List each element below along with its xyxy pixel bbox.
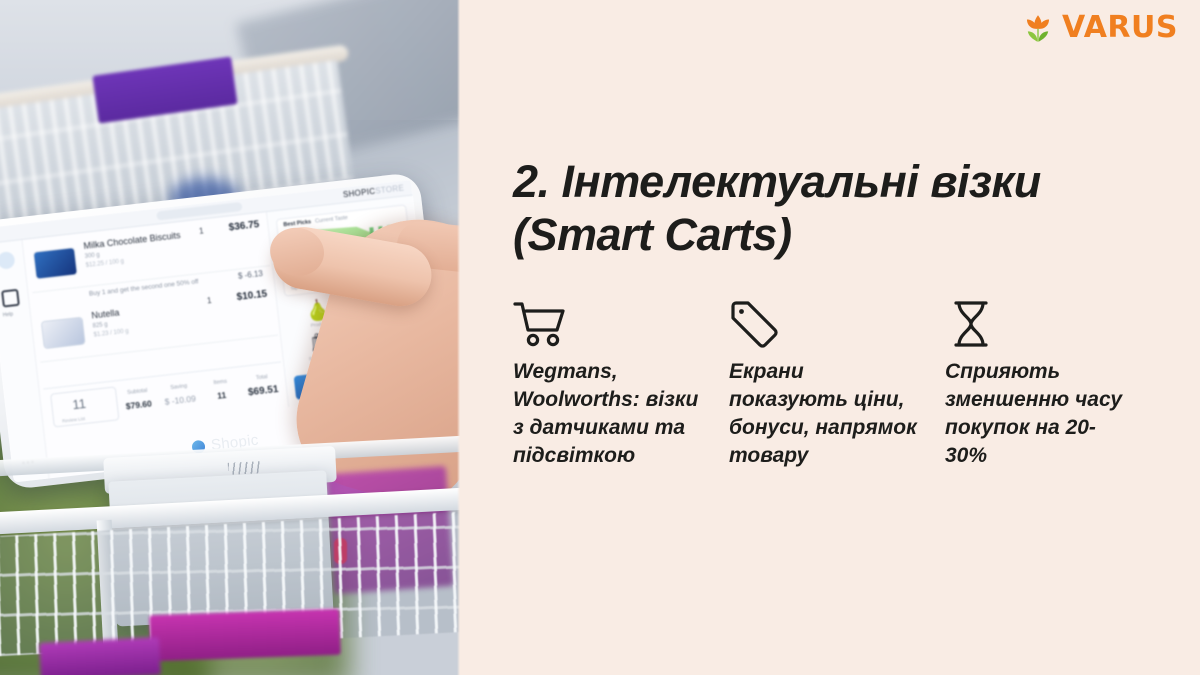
item-size: 825 g [92,322,108,330]
item-unit-price: $12.25 / 100 g [85,259,124,269]
promo-discount: $ -6.13 [238,269,264,281]
item-thumbnail [42,318,85,348]
summary-value: $79.60 [125,398,152,411]
item-qty: 1 [207,296,212,305]
feature-column-text: Wegmans, Woolworths: візки з датчиками т… [513,358,703,470]
summary-key: Saving [158,381,200,392]
varus-logo[interactable]: VARUS [1021,10,1178,45]
summary-saving: Saving $ -10.09 [158,381,202,410]
hourglass-icon [945,300,1135,358]
smart-cart-photo: Help ••• Milka Chocolate Biscuits 300 g … [0,0,460,675]
item-size: 300 g [84,252,100,260]
feature-column-screens: Екрани показують ціни, бонуси, напрямок … [729,300,945,470]
screen-item-list: Milka Chocolate Biscuits 300 g $12.25 / … [27,216,278,362]
feature-column-time: Сприяють зменшенню часу покупок на 20-30… [945,300,1161,470]
tulip-leaf-logo-icon [1021,11,1055,45]
review-list-box: 11 Review List [50,386,119,427]
item-unit-price: $1.23 / 100 g [93,329,128,339]
feature-column-carts: Wegmans, Woolworths: візки з датчиками т… [513,300,729,470]
rail-help-label: Help [3,311,14,318]
feature-column-text: Сприяють зменшенню часу покупок на 20-30… [945,358,1135,470]
item-thumbnail [34,248,77,278]
price-tag-icon [729,300,919,358]
rail-help-icon [1,289,20,308]
feature-column-text: Екрани показують ціни, бонуси, напрямок … [729,358,919,470]
varus-logo-text: VARUS [1062,10,1178,45]
item-qty: 1 [199,226,204,235]
summary-subtotal: Subtotal $79.60 [116,386,160,415]
page-title: 2. Інтелектуальні візки (Smart Carts) [513,155,1153,261]
summary-key: Items [199,377,241,388]
photo-device-vents [228,461,263,475]
item-name: Milka Chocolate Biscuits [83,230,181,251]
item-price: $10.15 [236,289,268,303]
shopping-cart-icon [513,300,703,358]
item-name: Nutella [91,307,120,320]
summary-key: Subtotal [116,386,158,397]
photo-magenta-bar [149,609,340,662]
summary-value: 11 [217,389,227,400]
rail-avatar-icon [0,251,16,270]
photo-magenta-bar-2 [39,637,161,675]
slide-root: Help ••• Milka Chocolate Biscuits 300 g … [0,0,1200,675]
item-price: $36.75 [228,219,260,233]
summary-items: Items 11 [199,377,243,406]
cart-count-label: Review List [62,416,85,424]
cart-count: 11 [72,395,87,411]
summary-value: $ -10.09 [164,393,196,406]
feature-columns: Wegmans, Woolworths: візки з датчиками т… [513,300,1163,470]
